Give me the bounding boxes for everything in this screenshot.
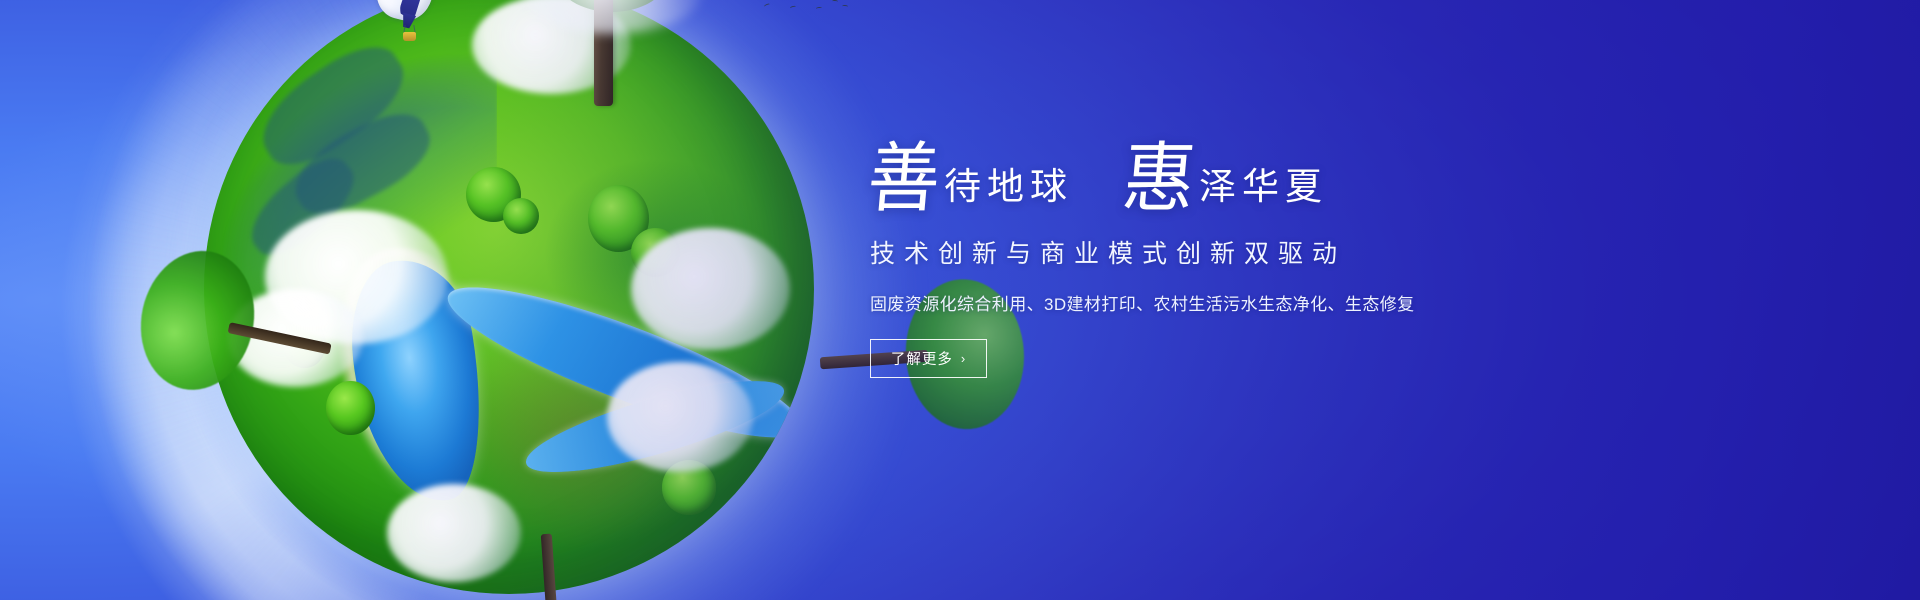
tree-canopy [128, 240, 267, 400]
chevron-right-icon: › [961, 351, 966, 366]
headline-glyph-large: 善 [865, 144, 943, 214]
balloon-basket [403, 32, 416, 41]
headline-phrase-1: 善 待地球 [868, 146, 1073, 212]
hot-air-balloon-icon [378, 0, 440, 48]
bird-icon [816, 7, 822, 11]
page-title: 善 待地球 惠 泽华夏 [868, 132, 1562, 212]
tree-icon [115, 203, 352, 440]
headline-glyph-large: 惠 [1120, 144, 1198, 214]
birds-flock-icon [744, 0, 874, 18]
learn-more-label: 了解更多 [891, 348, 953, 369]
headline-glyphs-small: 待地球 [944, 169, 1073, 212]
hero-tagline: 固废资源化综合利用、3D建材打印、农村生活污水生态净化、生态修复 [870, 290, 1562, 315]
bird-icon [842, 5, 848, 8]
hero-copy: 善 待地球 惠 泽华夏 技术创新与商业模式创新双驱动 固废资源化综合利用、3D建… [862, 132, 1562, 378]
tree-mist [522, 0, 702, 34]
learn-more-button[interactable]: 了解更多 › [870, 339, 987, 378]
tree-icon [486, 0, 736, 106]
tree-trunk [541, 534, 558, 600]
hero-banner: 善 待地球 惠 泽华夏 技术创新与商业模式创新双驱动 固废资源化综合利用、3D建… [0, 0, 1920, 600]
earth-globe-illustration [148, 0, 864, 600]
bird-icon [790, 5, 797, 9]
bird-icon [832, 0, 838, 3]
headline-glyphs-small: 泽华夏 [1199, 169, 1328, 212]
headline-phrase-2: 惠 泽华夏 [1123, 146, 1328, 212]
bird-icon [782, 0, 788, 1]
bird-icon [863, 0, 869, 2]
bird-icon [764, 3, 771, 8]
hero-subtitle: 技术创新与商业模式创新双驱动 [870, 234, 1562, 270]
tree-icon [442, 527, 654, 600]
